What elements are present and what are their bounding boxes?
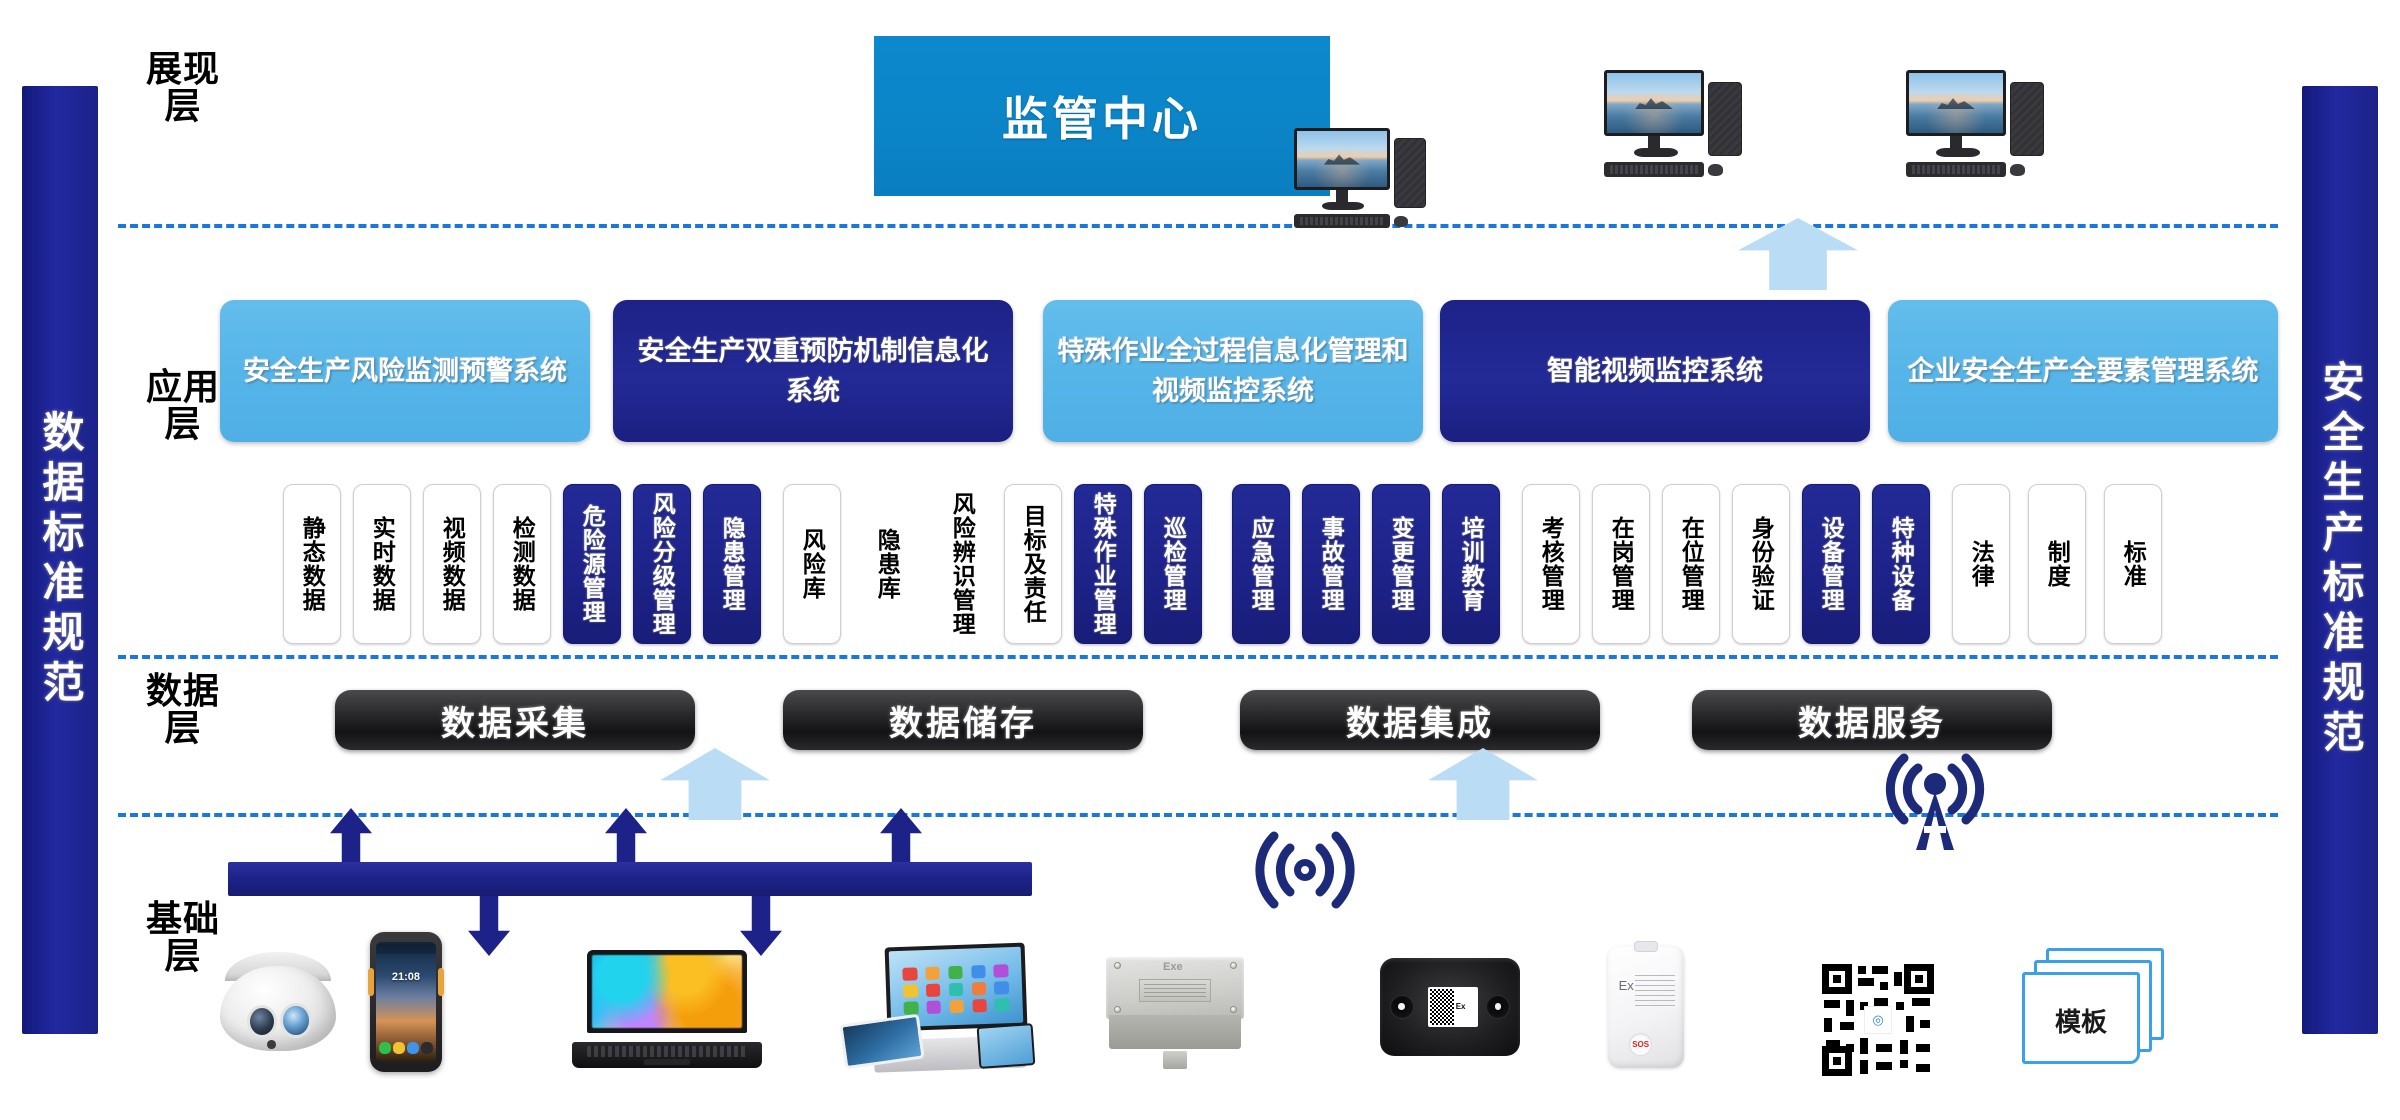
- keyboard-icon: [1604, 162, 1704, 177]
- network-bus-bar: [228, 862, 1032, 896]
- safety-standard-banner: 安全生产标准规范: [2302, 86, 2378, 1034]
- module-chip-static-data[interactable]: 静态数据: [283, 484, 341, 644]
- module-chip-label: 静态数据: [300, 516, 324, 612]
- module-chip-law[interactable]: 法律: [1952, 484, 2010, 644]
- tablet-cluster-icon: [838, 940, 1038, 1072]
- module-chip-assessment-management[interactable]: 考核管理: [1522, 484, 1580, 644]
- system-box-label: 特殊作业全过程信息化管理和视频监控系统: [1057, 331, 1409, 412]
- system-box-dual-prevention[interactable]: 安全生产双重预防机制信息化系统: [613, 300, 1013, 442]
- safety-standard-banner-label: 安全生产标准规范: [2319, 360, 2361, 760]
- module-chip-hazard-management[interactable]: 隐患管理: [703, 484, 761, 644]
- beacon-marking: Ex: [1619, 978, 1634, 993]
- system-box-label: 安全生产双重预防机制信息化系统: [627, 331, 999, 412]
- data-pill-integration[interactable]: 数据集成: [1240, 690, 1600, 750]
- module-chip-standard[interactable]: 标准: [2104, 484, 2162, 644]
- module-chip-label: 视频数据: [440, 516, 464, 612]
- system-box-label: 安全生产风险监测预警系统: [243, 351, 567, 392]
- arrow-infra-to-integration: [1428, 748, 1538, 820]
- data-standard-banner: 数据标准规范: [22, 86, 98, 1034]
- module-chip-label: 风险库: [800, 528, 824, 600]
- module-chip-label: 风险辨识管理: [950, 492, 974, 636]
- module-chip-label: 目标及责任: [1021, 504, 1045, 624]
- data-pill-storage[interactable]: 数据储存: [783, 690, 1143, 750]
- data-pill-label: 数据集成: [1346, 696, 1494, 745]
- module-chip-on-duty-management[interactable]: 在岗管理: [1592, 484, 1650, 644]
- data-pill-collection[interactable]: 数据采集: [335, 690, 695, 750]
- module-chip-label: 应急管理: [1249, 516, 1273, 612]
- supervision-center-box[interactable]: 监管中心: [874, 36, 1330, 196]
- module-chip-inspection-management[interactable]: 巡检管理: [1144, 484, 1202, 644]
- module-chip-special-operation-management[interactable]: 特殊作业管理: [1074, 484, 1132, 644]
- keyboard-icon: [1906, 162, 2006, 177]
- module-chip-label: 风险分级管理: [650, 492, 674, 636]
- explosion-proof-box-icon: Exe: [1100, 950, 1250, 1062]
- template-stack-label: 模板: [2022, 1002, 2140, 1039]
- layer-label-data: 数据层: [128, 672, 238, 747]
- system-box-enterprise-elements[interactable]: 企业安全生产全要素管理系统: [1888, 300, 2278, 442]
- module-chip-label: 变更管理: [1389, 516, 1413, 612]
- workstation-left: [1600, 70, 1760, 188]
- arrow-down-device-2: [740, 896, 782, 956]
- system-box-label: 企业安全生产全要素管理系统: [1908, 351, 2259, 392]
- module-chip-risk-grading-management[interactable]: 风险分级管理: [633, 484, 691, 644]
- junction-box-marking: Exe: [1163, 961, 1183, 973]
- data-pill-label: 数据采集: [441, 696, 589, 745]
- module-chip-label: 标准: [2121, 540, 2145, 588]
- module-chip-label: 考核管理: [1539, 516, 1563, 612]
- data-pill-label: 数据储存: [889, 696, 1037, 745]
- mouse-icon: [1708, 164, 1723, 176]
- monitor-icon: [1294, 128, 1390, 190]
- module-chip-training-education[interactable]: 培训教育: [1442, 484, 1500, 644]
- module-chip-label: 事故管理: [1319, 516, 1343, 612]
- mouse-icon: [1394, 216, 1408, 227]
- module-chip-detection-data[interactable]: 检测数据: [493, 484, 551, 644]
- arrow-up-bus-3: [880, 808, 922, 868]
- qr-code-icon: ◎: [1820, 962, 1936, 1078]
- system-box-risk-monitoring[interactable]: 安全生产风险监测预警系统: [220, 300, 590, 442]
- module-chip-label: 培训教育: [1459, 516, 1483, 612]
- arrow-up-bus-1: [330, 808, 372, 868]
- arrow-down-device-1: [468, 896, 510, 956]
- sos-button[interactable]: SOS: [1629, 1033, 1652, 1056]
- template-stack-icon: 模板: [2020, 948, 2170, 1070]
- layer-label-presentation: 展现层: [128, 50, 238, 125]
- module-chip-label: 在岗管理: [1609, 516, 1633, 612]
- module-chip-system[interactable]: 制度: [2028, 484, 2086, 644]
- module-chip-label: 实时数据: [370, 516, 394, 612]
- module-chip-change-management[interactable]: 变更管理: [1372, 484, 1430, 644]
- radio-tower-icon: [1880, 748, 1990, 858]
- module-chip-special-equipment[interactable]: 特种设备: [1872, 484, 1930, 644]
- divider-application-data: [118, 655, 2278, 659]
- supervision-center-title: 监管中心: [1002, 83, 1202, 149]
- keyboard-icon: [1294, 214, 1390, 228]
- workstation-center: [1290, 128, 1440, 240]
- module-chip-label: 法律: [1969, 540, 1993, 588]
- rugged-phone-icon: 21:08: [370, 932, 442, 1072]
- mouse-icon: [2010, 164, 2025, 176]
- module-chip-label: 隐患管理: [720, 516, 744, 612]
- module-chip-label: 危险源管理: [580, 504, 604, 624]
- module-chip-realtime-data[interactable]: 实时数据: [353, 484, 411, 644]
- module-chip-label: 检测数据: [510, 516, 534, 612]
- system-box-video-surveillance[interactable]: 智能视频监控系统: [1440, 300, 1870, 442]
- phone-screen-time: 21:08: [376, 971, 436, 983]
- wireless-signal-icon: [1250, 820, 1360, 920]
- module-chip-label: 特种设备: [1889, 516, 1913, 612]
- ex-tag-marking: Ex: [1456, 1002, 1466, 1011]
- module-chip-objectives-responsibility[interactable]: 目标及责任: [1004, 484, 1062, 644]
- pc-tower-icon: [2010, 82, 2044, 156]
- arrow-up-bus-2: [605, 808, 647, 868]
- data-pill-service[interactable]: 数据服务: [1692, 690, 2052, 750]
- module-chip-risk-library[interactable]: 风险库: [783, 484, 841, 644]
- arrow-infra-to-storage: [660, 748, 770, 820]
- module-chip-identity-verification[interactable]: 身份验证: [1732, 484, 1790, 644]
- workstation-right: [1902, 70, 2062, 188]
- module-chip-label: 特殊作业管理: [1091, 492, 1115, 636]
- monitor-icon: [1906, 70, 2006, 136]
- dome-camera-icon: [218, 948, 338, 1058]
- module-chip-label: 巡检管理: [1161, 516, 1185, 612]
- module-chip-accident-management[interactable]: 事故管理: [1302, 484, 1360, 644]
- pc-tower-icon: [1708, 82, 1742, 156]
- module-chip-label: 身份验证: [1749, 516, 1773, 612]
- module-chip-label: 制度: [2045, 540, 2069, 588]
- module-chip-label: 在位管理: [1679, 516, 1703, 612]
- diagram-canvas: 数据标准规范 安全生产标准规范 展现层 应用层 数据层 基础层 监管中心: [0, 0, 2400, 1120]
- pc-tower-icon: [1394, 138, 1426, 208]
- system-box-special-operation[interactable]: 特殊作业全过程信息化管理和视频监控系统: [1043, 300, 1423, 442]
- monitor-icon: [1604, 70, 1704, 136]
- qr-logo-icon: ◎: [1864, 1006, 1892, 1034]
- module-chip-equipment-management[interactable]: 设备管理: [1802, 484, 1860, 644]
- data-standard-banner-label: 数据标准规范: [39, 410, 81, 710]
- module-chip-hazard-source-management[interactable]: 危险源管理: [563, 484, 621, 644]
- data-pill-label: 数据服务: [1798, 696, 1946, 745]
- module-chip-risk-identification-management[interactable]: 风险辨识管理: [933, 484, 991, 644]
- system-box-label: 智能视频监控系统: [1547, 351, 1763, 392]
- laptop-icon: [572, 950, 762, 1068]
- sos-beacon-icon: Ex SOS: [1608, 946, 1684, 1068]
- arrow-data-to-presentation: [1738, 218, 1858, 290]
- module-chip-hazard-library[interactable]: 隐患库: [858, 484, 916, 644]
- module-chip-emergency-management[interactable]: 应急管理: [1232, 484, 1290, 644]
- module-chip-video-data[interactable]: 视频数据: [423, 484, 481, 644]
- ex-tag-icon: Ex: [1380, 958, 1520, 1056]
- divider-presentation-application: [118, 224, 2278, 228]
- module-chip-label: 隐患库: [875, 528, 899, 600]
- module-chip-on-site-management[interactable]: 在位管理: [1662, 484, 1720, 644]
- module-chip-label: 设备管理: [1819, 516, 1843, 612]
